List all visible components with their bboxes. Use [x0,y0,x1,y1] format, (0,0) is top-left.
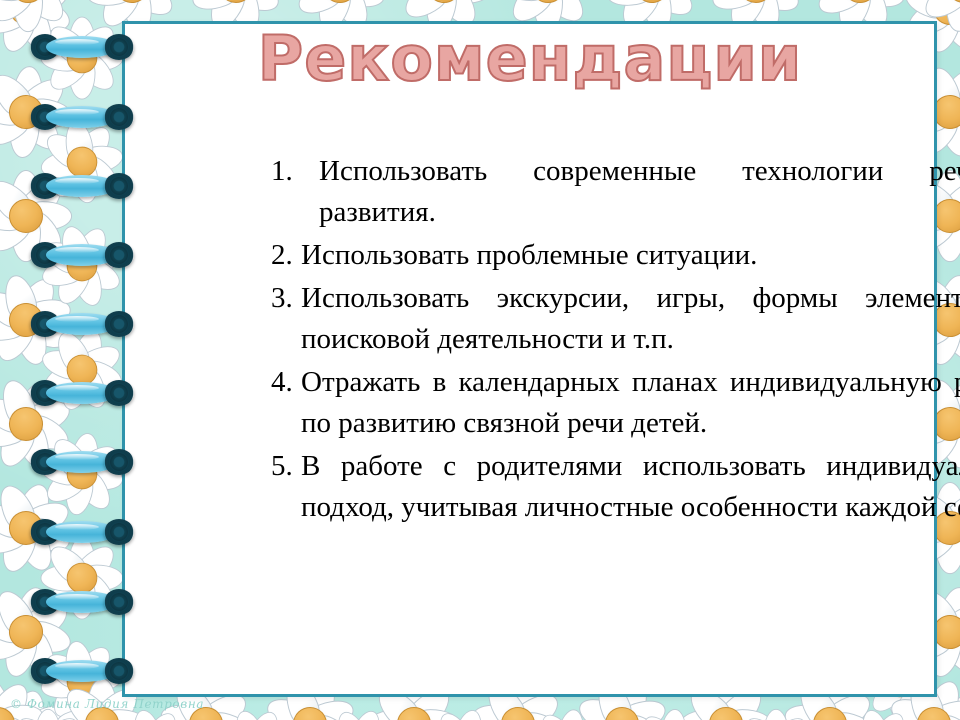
daisy-petal-icon [0,514,34,561]
daisy-center-icon [61,141,104,184]
daisy-petal-icon [16,0,71,29]
daisy-petal-icon [0,0,34,41]
spiral-ring-cap-left-icon [30,242,60,268]
spiral-ring-icon [30,173,134,199]
daisy-petal-icon [0,391,34,438]
daisy-petal-icon [680,709,728,720]
daisy-petal-icon [20,294,74,335]
daisy-petal-icon [614,710,670,720]
daisy-flower-icon [28,316,137,425]
daisy-petal-icon [0,1,41,56]
daisy-petal-icon [0,618,35,668]
daisy-petal-icon [396,0,448,1]
spiral-ring-icon [30,104,134,130]
daisy-petal-icon [70,121,117,172]
list-item: 2.Использовать проблемные ситуации. [271,235,960,276]
daisy-petal-icon [471,710,528,720]
daisy-flower-icon [628,704,716,720]
list-item: 1.Использовать современные технологии ре… [271,151,960,233]
daisy-petal-icon [535,709,579,720]
daisy-petal-icon [201,709,254,720]
daisy-petal-icon [19,513,74,558]
daisy-petal-icon [714,712,769,720]
daisy-petal-icon [936,64,960,120]
daisy-petal-icon [0,0,33,23]
daisy-petal-icon [51,258,95,309]
daisy-petal-icon [127,0,181,1]
daisy-petal-icon [11,65,45,115]
daisy-petal-icon [78,142,125,175]
list-item-text: Отражать в календарных планах индивидуал… [301,362,960,444]
daisy-center-icon [3,297,49,343]
daisy-petal-icon [0,714,12,720]
daisy-petal-icon [38,253,87,292]
daisy-petal-icon [11,214,41,262]
daisy-flower-icon [39,535,125,621]
daisy-petal-icon [68,158,101,205]
daisy-petal-icon [368,709,416,720]
daisy-petal-icon [647,0,701,1]
daisy-petal-icon [14,173,69,228]
daisy-flower-icon [735,707,817,720]
daisy-petal-icon [73,439,124,486]
daisy-petal-icon [683,712,738,720]
daisy-flower-icon [521,701,616,720]
spiral-ring-cap-left-icon [30,380,60,406]
daisy-petal-icon [70,465,117,516]
daisy-petal-icon [0,173,38,228]
daisy-petal-icon [69,260,108,309]
daisy-petal-icon [12,623,62,680]
daisy-center-icon [3,0,48,31]
daisy-petal-icon [292,0,346,1]
spiral-ring-cap-left-icon [30,449,60,475]
daisy-petal-icon [19,394,74,439]
daisy-center-icon [64,456,99,491]
daisy-petal-icon [332,707,372,720]
daisy-petal-icon [663,713,711,720]
daisy-petal-icon [0,710,45,720]
daisy-petal-icon [927,694,960,720]
daisy-petal-icon [292,0,349,22]
daisy-petal-icon [935,584,960,638]
daisy-petal-icon [231,707,269,720]
daisy-petal-icon [71,19,121,69]
daisy-center-icon [912,702,957,720]
daisy-petal-icon [502,0,550,1]
content-page: 1.Использовать современные технологии ре… [122,21,937,697]
daisy-petal-icon [71,47,121,97]
daisy-petal-icon [78,662,125,695]
daisy-petal-icon [935,526,960,574]
daisy-petal-icon [76,357,125,396]
daisy-petal-icon [943,0,960,34]
daisy-flower-icon [0,0,76,34]
daisy-petal-icon [816,714,867,720]
daisy-petal-icon [451,707,486,720]
daisy-petal-icon [0,376,41,431]
list-item-number: 1. [271,151,319,192]
daisy-petal-icon [0,498,33,543]
daisy-petal-icon [858,707,893,720]
list-item-text: Использовать экскурсии, игры, формы элем… [301,278,960,360]
daisy-petal-icon [56,222,95,271]
list-item-text: Использовать проблемные ситуации. [301,235,960,276]
daisy-petal-icon [0,272,41,326]
daisy-flower-icon [202,694,310,720]
spiral-ring-icon [30,380,134,406]
daisy-petal-icon [278,716,325,720]
daisy-petal-icon [604,0,658,11]
daisy-flower-icon [0,0,90,72]
daisy-petal-icon [11,584,52,638]
daisy-petal-icon [40,127,91,174]
spiral-ring-body-icon [46,382,118,404]
daisy-petal-icon [74,253,125,297]
recommendations-list: 1.Использовать современные технологии ре… [271,151,960,530]
daisy-petal-icon [71,539,121,589]
daisy-petal-icon [11,170,41,218]
daisy-center-icon [600,702,645,720]
daisy-petal-icon [902,701,958,720]
list-item-number: 3. [271,278,301,319]
daisy-center-icon [8,94,45,131]
list-item-number: 4. [271,362,301,403]
daisy-petal-icon [708,0,764,1]
daisy-petal-icon [0,585,40,642]
daisy-center-icon [11,0,45,3]
daisy-petal-icon [11,314,52,368]
daisy-petal-icon [69,223,113,274]
daisy-petal-icon [0,0,30,1]
daisy-petal-icon [24,201,72,231]
spiral-ring-body-icon [46,244,118,266]
daisy-petal-icon [440,0,492,7]
spiral-ring-icon [30,658,134,684]
daisy-petal-icon [0,521,41,576]
daisy-petal-icon [7,109,41,159]
daisy-petal-icon [14,204,69,259]
spiral-ring-body-icon [46,521,118,543]
daisy-petal-icon [244,707,284,720]
daisy-petal-icon [412,709,460,720]
daisy-center-icon [498,704,538,720]
daisy-petal-icon [812,0,869,22]
daisy-petal-icon [944,617,960,658]
daisy-petal-icon [62,119,95,166]
daisy-petal-icon [62,470,95,517]
daisy-petal-icon [302,710,358,720]
daisy-petal-icon [43,19,93,69]
daisy-flower-icon [0,667,55,720]
daisy-center-icon [397,707,431,720]
daisy-petal-icon [334,0,388,13]
daisy-center-icon [319,0,361,7]
daisy-petal-icon [0,201,28,231]
daisy-petal-icon [371,712,426,720]
spiral-ring-icon [30,34,134,60]
daisy-petal-icon [11,0,56,15]
daisy-center-icon [67,563,98,594]
spiral-ring-icon [30,242,134,268]
daisy-flower-icon [0,60,78,164]
daisy-petal-icon [0,284,35,334]
daisy-petal-icon [0,204,38,259]
daisy-flower-icon [0,466,88,589]
daisy-center-icon [734,0,779,8]
daisy-petal-icon [18,0,74,22]
daisy-petal-icon [783,710,840,720]
daisy-petal-icon [886,709,942,720]
daisy-petal-icon [935,0,960,14]
daisy-petal-icon [76,240,125,279]
daisy-petal-icon [11,480,56,535]
daisy-center-icon [61,245,102,286]
daisy-center-icon [425,0,463,5]
daisy-petal-icon [15,71,71,125]
daisy-petal-icon [926,710,960,720]
spiral-ring-cap-left-icon [30,104,60,130]
daisy-petal-icon [73,150,124,197]
daisy-petal-icon [38,711,85,720]
daisy-petal-icon [0,67,39,123]
daisy-petal-icon [637,710,683,720]
daisy-petal-icon [559,715,607,720]
daisy-petal-icon [39,357,90,401]
daisy-petal-icon [0,626,41,680]
daisy-center-icon [5,611,47,653]
daisy-petal-icon [47,433,94,484]
daisy-petal-icon [159,710,216,720]
daisy-petal-icon [62,639,95,686]
daisy-petal-icon [915,0,960,17]
daisy-petal-icon [941,595,960,645]
daisy-petal-icon [12,376,59,432]
daisy-petal-icon [0,480,40,536]
daisy-petal-icon [51,327,95,378]
daisy-petal-icon [0,0,40,16]
daisy-petal-icon [433,708,475,720]
daisy-petal-icon [69,576,96,619]
daisy-petal-icon [659,708,688,720]
daisy-center-icon [3,401,48,446]
daisy-flower-icon [414,698,514,720]
daisy-petal-icon [43,567,93,617]
daisy-petal-icon [13,101,67,157]
daisy-petal-icon [262,709,318,720]
daisy-petal-icon [80,565,123,592]
copyright-watermark: © Фомина Лидия Петровна [10,697,204,711]
daisy-flower-icon [0,360,90,488]
daisy-petal-icon [47,153,94,204]
daisy-petal-icon [43,539,93,589]
daisy-petal-icon [951,0,960,32]
daisy-petal-icon [71,567,121,617]
daisy-center-icon [4,506,48,550]
daisy-petal-icon [766,711,813,720]
list-item: 5.В работе с родителями использовать инд… [271,446,960,528]
daisy-petal-icon [78,460,125,493]
daisy-petal-icon [941,98,960,147]
daisy-petal-icon [17,306,74,356]
daisy-center-icon [945,0,960,5]
daisy-petal-icon [546,0,594,1]
daisy-petal-icon [229,0,285,1]
daisy-petal-icon [0,409,33,454]
daisy-petal-icon [574,709,630,720]
daisy-center-icon [927,713,960,720]
spiral-ring-cap-left-icon [30,519,60,545]
daisy-petal-icon [69,537,96,580]
daisy-center-icon [709,707,743,720]
daisy-petal-icon [228,0,284,19]
daisy-petal-icon [26,0,74,1]
spiral-ring-cap-left-icon [30,173,60,199]
daisy-petal-icon [56,364,95,413]
daisy-petal-icon [69,56,96,99]
daisy-petal-icon [80,45,123,72]
daisy-petal-icon [0,686,8,720]
daisy-petal-icon [944,0,960,36]
daisy-center-icon [6,716,45,720]
daisy-petal-icon [59,712,114,720]
daisy-center-icon [810,704,850,720]
daisy-petal-icon [0,713,30,720]
daisy-petal-icon [12,520,59,576]
spiral-ring-body-icon [46,106,118,128]
daisy-petal-icon [513,709,566,720]
daisy-petal-icon [0,709,3,720]
spiral-ring-body-icon [46,660,118,682]
daisy-petal-icon [69,326,108,375]
daisy-petal-icon [812,0,866,1]
daisy-petal-icon [12,0,59,56]
daisy-petal-icon [708,0,764,17]
daisy-petal-icon [41,45,84,72]
daisy-center-icon [629,0,676,9]
daisy-flower-icon [0,573,85,691]
daisy-flower-icon [0,168,74,264]
daisy-petal-icon [12,273,62,330]
spiral-ring-body-icon [46,451,118,473]
daisy-flower-icon [39,15,125,101]
daisy-flower-icon [308,696,413,720]
daisy-petal-icon [944,708,960,720]
daisy-flower-icon [0,254,92,385]
daisy-petal-icon [188,0,244,17]
slide-root: 1.Использовать современные технологии ре… [0,0,960,720]
spiral-ring-icon [30,311,134,337]
list-item-number: 2. [271,235,301,276]
daisy-petal-icon [936,0,960,56]
daisy-petal-icon [724,709,772,720]
daisy-center-icon [288,702,333,720]
daisy-petal-icon [782,700,835,720]
list-item-text: В работе с родителями использовать индив… [301,446,960,528]
daisy-petal-icon [402,712,457,720]
daisy-petal-icon [23,97,73,131]
list-item: 4.Отражать в календарных планах индивиду… [271,362,960,444]
daisy-petal-icon [749,0,805,1]
spiral-ring-cap-left-icon [30,658,60,684]
daisy-petal-icon [941,0,960,22]
daisy-petal-icon [0,305,32,346]
daisy-petal-icon [84,0,138,11]
spiral-ring-cap-left-icon [30,311,60,337]
daisy-flower-icon [33,425,132,524]
daisy-petal-icon [69,362,113,413]
daisy-petal-icon [825,709,878,720]
daisy-petal-icon [17,596,74,646]
daisy-petal-icon [13,0,43,32]
daisy-center-icon [839,0,881,7]
daisy-petal-icon [0,0,40,29]
daisy-petal-icon [188,0,244,1]
daisy-petal-icon [0,606,32,647]
daisy-petal-icon [0,99,37,153]
daisy-petal-icon [38,344,87,383]
daisy-petal-icon [936,623,960,680]
daisy-petal-icon [470,700,523,720]
spiral-ring-icon [30,519,134,545]
daisy-center-icon [9,199,43,233]
daisy-petal-icon [122,0,179,23]
spiral-ring-body-icon [46,36,118,58]
daisy-center-icon [67,43,98,74]
daisy-petal-icon [40,647,91,694]
daisy-center-icon [531,0,565,3]
daisy-petal-icon [868,708,910,720]
daisy-petal-icon [39,235,90,279]
daisy-petal-icon [763,709,789,720]
spiral-ring-icon [30,589,134,615]
daisy-petal-icon [555,707,587,720]
daisy-petal-icon [68,431,101,478]
daisy-petal-icon [18,495,74,542]
daisy-petal-icon [303,694,359,720]
daisy-petal-icon [74,339,125,383]
spiral-ring-body-icon [46,591,118,613]
daisy-flower-icon [930,694,960,720]
daisy-petal-icon [944,84,960,127]
daisy-petal-icon [642,0,699,23]
daisy-petal-icon [936,688,960,720]
spiral-ring-body-icon [46,313,118,335]
daisy-petal-icon [192,714,243,720]
daisy-petal-icon [19,0,74,38]
spiral-ring-cap-left-icon [30,34,60,60]
spiral-ring-cap-left-icon [30,589,60,615]
daisy-petal-icon [11,711,58,720]
daisy-petal-icon [90,712,145,720]
daisy-petal-icon [504,714,555,720]
spiral-ring-body-icon [46,175,118,197]
daisy-petal-icon [18,410,74,457]
daisy-petal-icon [590,716,637,720]
daisy-petal-icon [739,711,786,720]
daisy-petal-icon [0,93,29,127]
daisy-petal-icon [854,0,908,13]
daisy-petal-icon [39,148,86,181]
daisy-petal-icon [916,0,960,1]
daisy-petal-icon [69,17,96,60]
daisy-petal-icon [41,565,84,592]
daisy-petal-icon [902,716,949,720]
daisy-petal-icon [347,707,385,720]
page-title: Рекомендации [160,22,900,95]
spiral-ring-icon [30,449,134,475]
list-item: 3.Использовать экскурсии, игры, формы эл… [271,278,960,360]
